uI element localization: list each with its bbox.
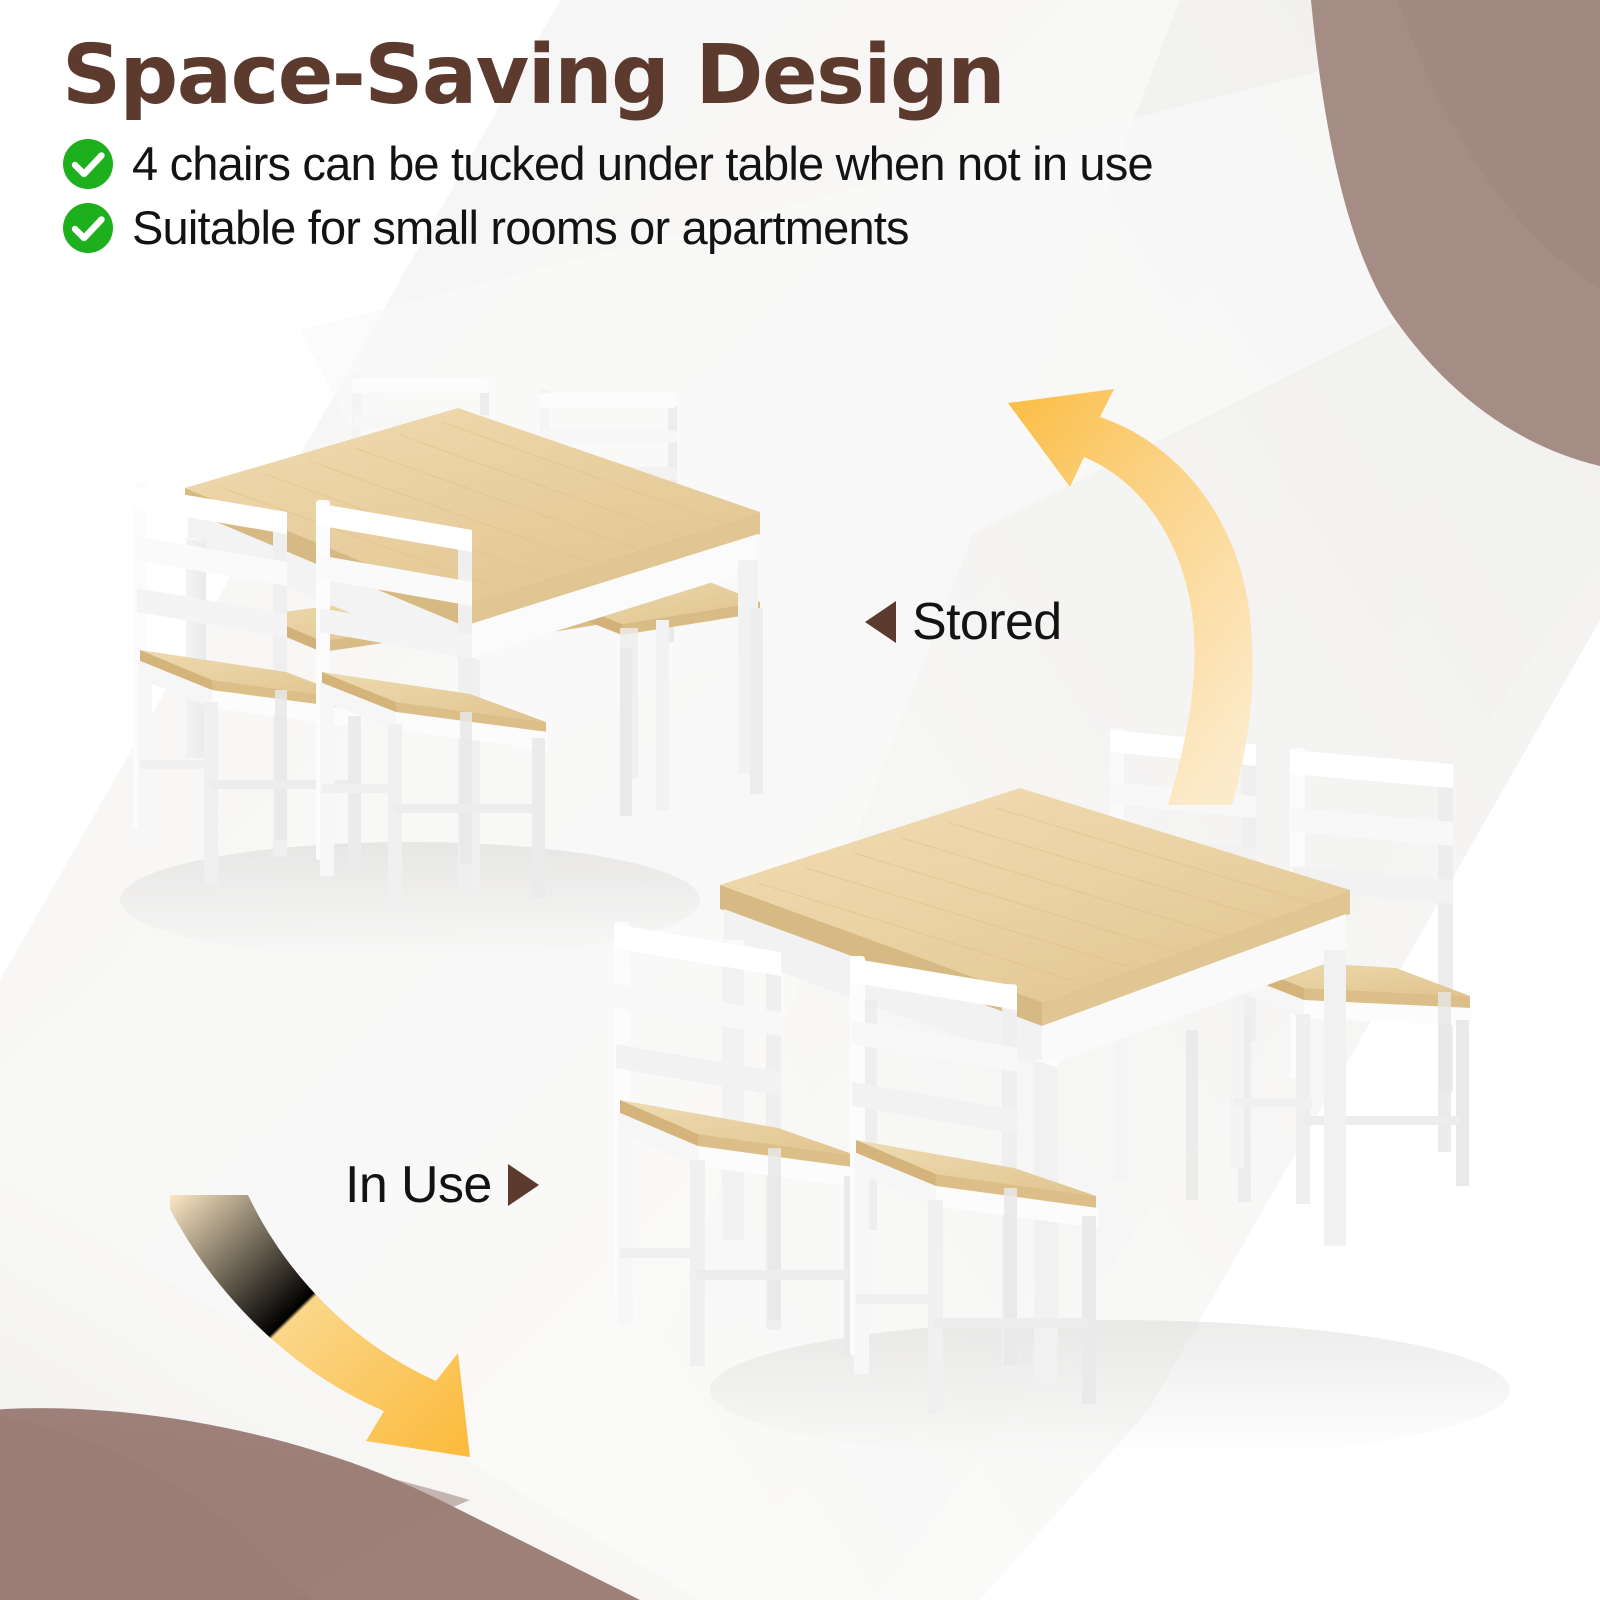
callout-stored: Stored xyxy=(865,592,1062,652)
callout-stored-label: Stored xyxy=(912,592,1062,652)
callout-in-use: In Use xyxy=(345,1155,539,1215)
feature-bullet-text: Suitable for small rooms or apartments xyxy=(132,202,909,254)
check-circle-icon xyxy=(62,138,114,190)
triangle-left-icon xyxy=(865,601,896,643)
corner-shape-bottom-left xyxy=(0,1408,660,1600)
feature-bullet-text: 4 chairs can be tucked under table when … xyxy=(132,138,1153,190)
triangle-right-icon xyxy=(508,1164,539,1206)
curved-arrow-down-right-icon xyxy=(170,1195,520,1505)
check-circle-icon xyxy=(62,202,114,254)
feature-bullet-list: 4 chairs can be tucked under table when … xyxy=(62,138,1542,254)
header-block: Space-Saving Design 4 chairs can be tuck… xyxy=(62,34,1542,266)
dining-set-in-use-image xyxy=(590,700,1590,1500)
page-title: Space-Saving Design xyxy=(62,34,1542,118)
callout-in-use-label: In Use xyxy=(345,1155,492,1215)
infographic-canvas: Space-Saving Design 4 chairs can be tuck… xyxy=(0,0,1600,1600)
feature-bullet-item: 4 chairs can be tucked under table when … xyxy=(62,138,1542,190)
dining-table-in-use xyxy=(720,788,1350,1390)
feature-bullet-item: Suitable for small rooms or apartments xyxy=(62,202,1542,254)
